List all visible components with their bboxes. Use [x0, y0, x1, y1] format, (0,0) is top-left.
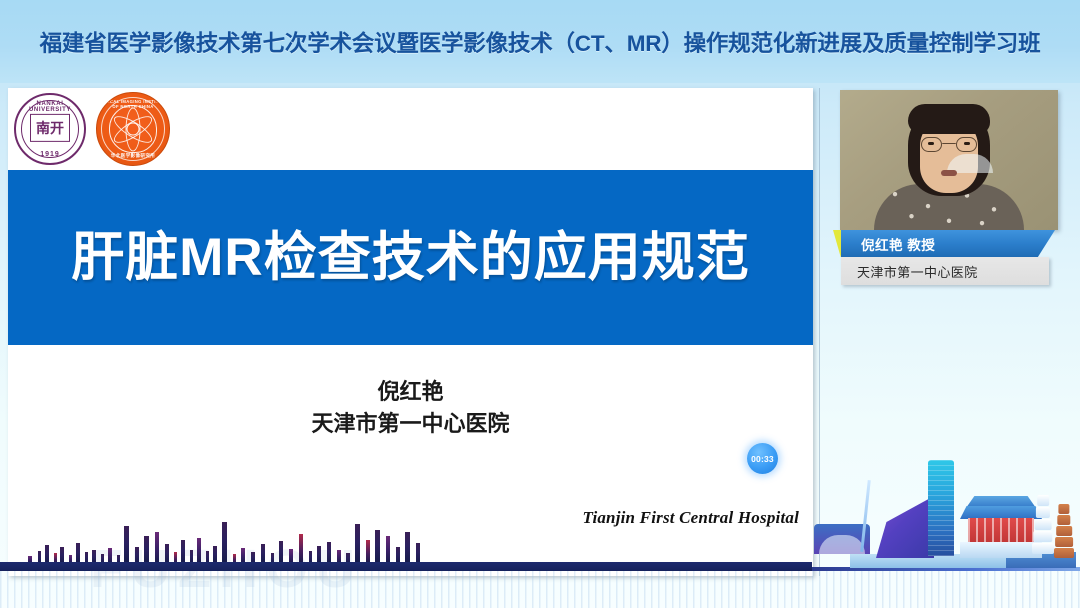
nankai-university-logo: NANKAI UNIVERSITY 南开 1919 — [14, 93, 86, 165]
landmark-bridge — [814, 524, 870, 554]
slide-presenter-block: 倪红艳 天津市第一中心医院 — [8, 376, 813, 440]
brick-pagoda-tier — [1055, 537, 1073, 547]
temple-lower-roof — [960, 506, 1042, 519]
speaker-webcam-image — [840, 90, 1058, 230]
landmark-plaza — [850, 554, 1030, 568]
white-pagoda-tier — [1035, 519, 1052, 530]
brick-pagoda-tier — [1056, 526, 1072, 536]
conference-title: 福建省医学影像技术第七次学术会议暨医学影像技术（CT、MR）操作规范化新进展及质… — [40, 26, 1041, 58]
institute-arc-top-text: MEDICAL IMAGING INSTITUTE OF NORTH CHINA — [97, 99, 169, 109]
landmark-temple — [960, 496, 1042, 558]
brick-pagoda-tier — [1058, 504, 1069, 514]
nankai-center-glyph: 南开 — [30, 114, 70, 142]
institute-arc-bottom-text: 华北医学影像研究所 — [97, 153, 169, 159]
conference-header-banner: 福建省医学影像技术第七次学术会议暨医学影像技术（CT、MR）操作规范化新进展及质… — [0, 0, 1080, 83]
landmark-white-pagoda — [1032, 492, 1054, 554]
landmark-sail-building — [876, 496, 934, 558]
nankai-founding-year: 1919 — [16, 151, 84, 158]
landmark-lowrise-block — [1006, 552, 1076, 568]
glasses-lens-left — [921, 137, 942, 152]
temple-body — [968, 518, 1034, 544]
institute-nucleus-icon — [127, 123, 140, 136]
slide-english-org: Tianjin First Central Hospital — [582, 508, 799, 528]
white-pagoda-tier — [1036, 507, 1050, 518]
slide-logo-group: NANKAI UNIVERSITY 南开 1919 MEDICAL IMAGIN… — [14, 92, 170, 166]
speaker-org-label: 天津市第一中心医院 — [841, 262, 978, 281]
elapsed-time-badge[interactable]: 00:33 — [747, 443, 778, 474]
white-pagoda-tier — [1033, 531, 1052, 542]
slide-panel-divider — [819, 88, 820, 576]
speaker-name-label: 倪红艳 教授 — [841, 234, 935, 254]
landmark-brick-pagoda — [1054, 500, 1074, 558]
speaker-name-banner: 倪红艳 教授 — [833, 230, 1055, 257]
speaker-org-bar: 天津市第一中心医院 — [841, 257, 1049, 285]
landmark-glass-tower — [928, 460, 954, 556]
speaker-fringe — [908, 104, 990, 134]
medical-imaging-institute-logo: MEDICAL IMAGING INSTITUTE OF NORTH CHINA… — [96, 92, 170, 166]
slide-presenter-org: 天津市第一中心医院 — [8, 408, 813, 440]
brick-pagoda-tier — [1054, 548, 1074, 558]
temple-base — [960, 542, 1042, 558]
slide-surface[interactable]: NANKAI UNIVERSITY 南开 1919 MEDICAL IMAGIN… — [8, 88, 813, 576]
elapsed-time-label: 00:33 — [751, 454, 774, 464]
glasses-bridge — [942, 143, 956, 144]
brick-pagoda-tier — [1057, 515, 1070, 525]
temple-upper-roof — [966, 496, 1036, 508]
glasses-lens-right — [956, 137, 977, 152]
white-pagoda-tier — [1032, 543, 1054, 554]
white-pagoda-tier — [1037, 495, 1049, 506]
slide-presenter-name: 倪红艳 — [8, 376, 813, 408]
speaker-glasses-icon — [921, 137, 977, 153]
slide-title-band: 肝脏MR检查技术的应用规范 — [8, 170, 813, 345]
banner-body: 倪红艳 教授 — [841, 230, 1055, 257]
fuzhou-landmark-skyline — [810, 456, 1074, 568]
nankai-arc-top-text: NANKAI UNIVERSITY — [16, 101, 84, 113]
speaker-video-panel[interactable] — [840, 90, 1058, 230]
slide-title: 肝脏MR检查技术的应用规范 — [71, 231, 749, 284]
navy-ground-band-right — [812, 567, 1080, 571]
presentation-viewer: 福建省医学影像技术第七次学术会议暨医学影像技术（CT、MR）操作规范化新进展及质… — [0, 0, 1080, 608]
landmark-sail-mast — [860, 480, 871, 552]
speaker-mouth — [941, 170, 957, 176]
